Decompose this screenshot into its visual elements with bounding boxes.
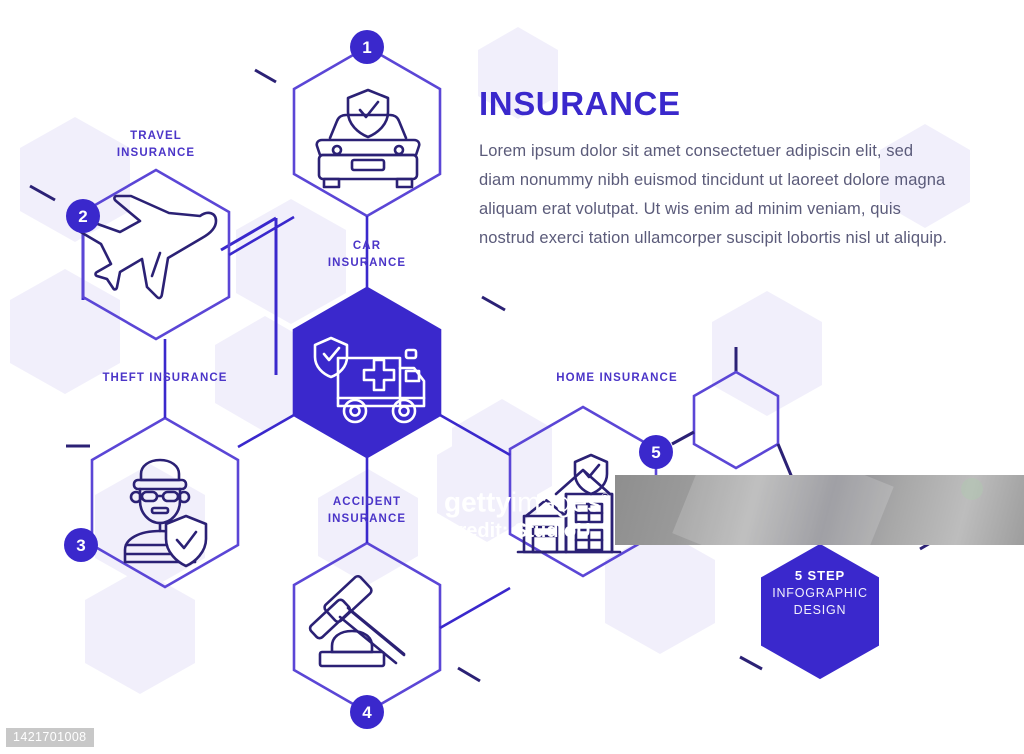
- hexagon-car-outline: [294, 47, 440, 216]
- header-text-block: INSURANCE Lorem ipsum dolor sit amet con…: [479, 85, 951, 253]
- stub-cta-lower-left: [740, 657, 762, 669]
- artboard: CAR INSURANCE TRAVEL INSURANCE THEFT INS…: [0, 0, 1024, 754]
- step-badge-2[interactable]: 2: [66, 199, 100, 233]
- link-badge5-to-small-hex: [672, 432, 694, 444]
- stub-accident-right: [482, 297, 505, 310]
- step-badge-5[interactable]: 5: [639, 435, 673, 469]
- asset-id-label: 1421701008: [6, 728, 94, 747]
- step-badge-3[interactable]: 3: [64, 528, 98, 562]
- stub-car-upper-left: [255, 70, 276, 82]
- hexagon-cta-shape: [762, 545, 878, 678]
- gavel-icon: [308, 575, 404, 666]
- step-badge-4[interactable]: 4: [350, 695, 384, 729]
- watermark-band: [615, 475, 1024, 545]
- ghost-hex-under-theft: [85, 569, 195, 694]
- page-title: INSURANCE: [479, 85, 951, 123]
- body-paragraph: Lorem ipsum dolor sit amet consectetuer …: [479, 137, 951, 253]
- stub-gavel-lower-right: [458, 668, 480, 681]
- ghost-hex-right-upper: [712, 291, 822, 416]
- ghost-hex-left-lower: [10, 269, 120, 394]
- hexagon-center-accident[interactable]: [294, 288, 440, 457]
- infographic-canvas: CAR INSURANCE TRAVEL INSURANCE THEFT INS…: [0, 0, 1024, 754]
- hexagon-cta[interactable]: [762, 545, 878, 678]
- link-gavel-to-home: [440, 588, 510, 628]
- step-badge-1[interactable]: 1: [350, 30, 384, 64]
- ghost-hex-right-lower: [605, 529, 715, 654]
